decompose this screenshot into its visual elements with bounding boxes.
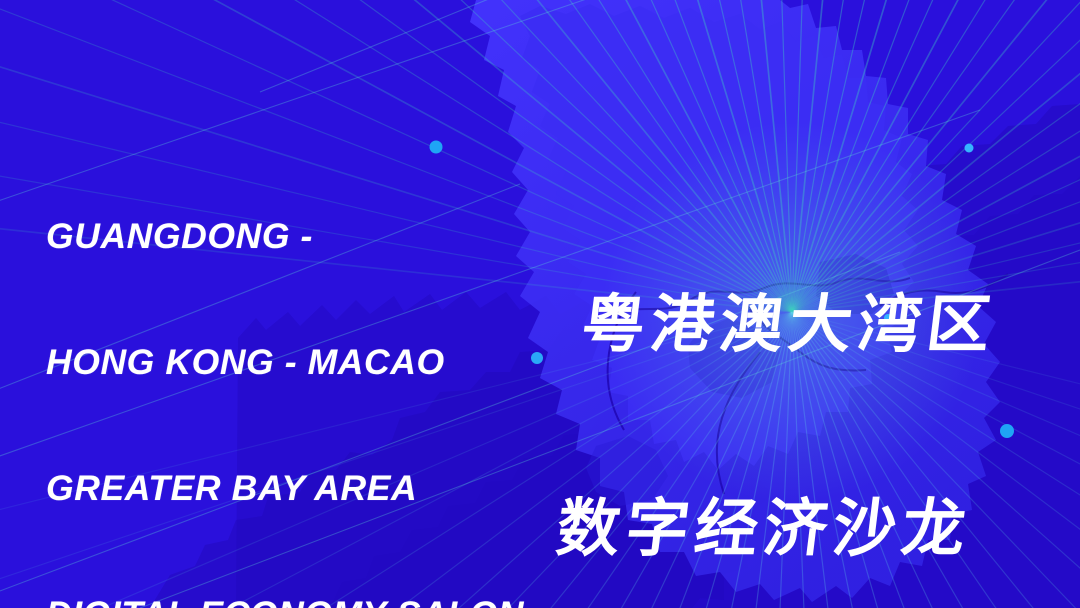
chinese-title: 粤港澳大湾区 数字经济沙龙 bbox=[536, 155, 1017, 608]
english-title-line-4: DIGITAL ECONOMY SALON bbox=[46, 593, 524, 608]
english-title-line-3: GREATER BAY AREA bbox=[46, 467, 524, 509]
english-title-line-2: HONG KONG - MACAO bbox=[46, 341, 524, 383]
english-title: GUANGDONG - HONG KONG - MACAO GREATER BA… bbox=[46, 131, 524, 608]
english-title-line-1: GUANGDONG - bbox=[46, 215, 524, 257]
chinese-title-line-2: 数字经济沙龙 bbox=[553, 495, 975, 563]
chinese-title-line-1: 粤港澳大湾区 bbox=[578, 291, 1000, 359]
poster-canvas: GUANGDONG - HONG KONG - MACAO GREATER BA… bbox=[0, 0, 1080, 608]
text-layer: GUANGDONG - HONG KONG - MACAO GREATER BA… bbox=[0, 0, 1080, 608]
